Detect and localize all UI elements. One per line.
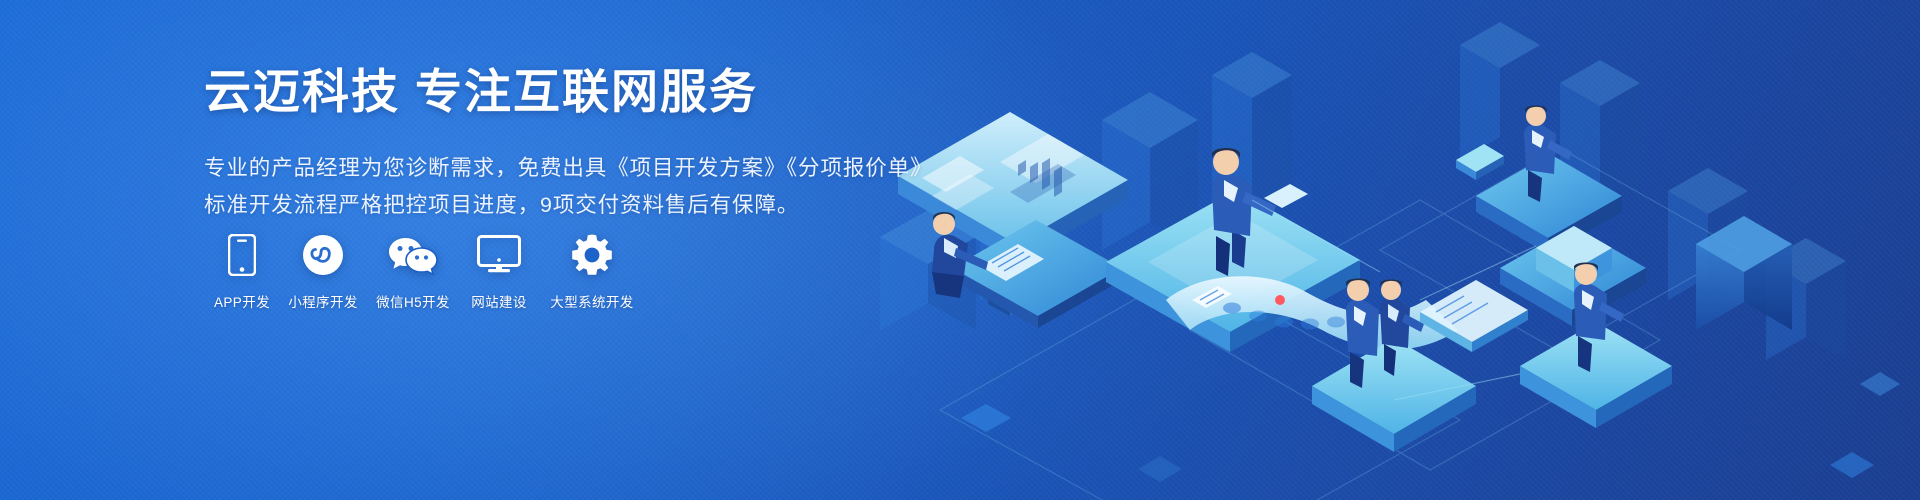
page-title: 云迈科技 专注互联网服务 <box>204 62 904 122</box>
service-item-app[interactable]: APP开发 <box>206 232 278 311</box>
mini-program-icon <box>302 232 344 278</box>
service-item-website[interactable]: 网站建设 <box>459 232 539 311</box>
mobile-phone-icon <box>228 232 256 278</box>
service-list: APP开发 小程序开发 微信 <box>206 232 645 311</box>
banner-subtitle: 专业的产品经理为您诊断需求，免费出具《项目开发方案》《分项报价单》 标准开发流程… <box>204 150 904 224</box>
service-label-website: 网站建设 <box>471 291 527 311</box>
service-item-system[interactable]: 大型系统开发 <box>540 232 644 311</box>
subtitle-line-2: 标准开发流程严格把控项目进度，9项交付资料售后有保障。 <box>204 187 904 224</box>
service-label-miniprogram: 小程序开发 <box>288 291 358 311</box>
wechat-icon <box>388 232 438 278</box>
subtitle-line-1: 专业的产品经理为您诊断需求，免费出具《项目开发方案》《分项报价单》 <box>204 150 904 187</box>
service-label-app: APP开发 <box>214 291 270 311</box>
service-label-wechat: 微信H5开发 <box>376 291 450 311</box>
service-item-wechat[interactable]: 微信H5开发 <box>368 232 458 311</box>
banner-text-block: 云迈科技 专注互联网服务 专业的产品经理为您诊断需求，免费出具《项目开发方案》《… <box>204 62 904 225</box>
service-label-system: 大型系统开发 <box>550 291 633 311</box>
promotional-banner: 云迈科技 专注互联网服务 专业的产品经理为您诊断需求，免费出具《项目开发方案》《… <box>0 0 1920 500</box>
gear-icon <box>571 232 613 278</box>
monitor-icon <box>477 232 521 278</box>
service-item-miniprogram[interactable]: 小程序开发 <box>279 232 367 311</box>
isometric-tech-team-illustration <box>860 0 1920 500</box>
